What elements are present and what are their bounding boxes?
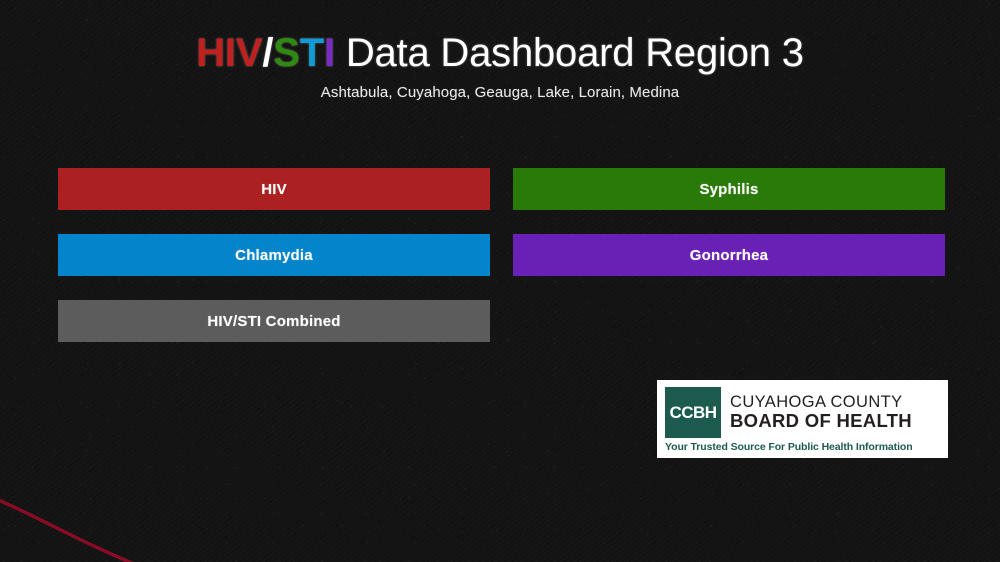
nav-button-syphilis[interactable]: Syphilis	[513, 168, 945, 210]
decorative-red-curve	[0, 476, 204, 562]
title-segment-i: I	[324, 31, 335, 75]
slide-canvas: HIV/STI Data Dashboard Region 3 Ashtabul…	[0, 0, 1000, 562]
title-segment-t: T	[300, 31, 324, 75]
logo-line-cuyahoga-county: CUYAHOGA COUNTY	[730, 394, 940, 411]
title-rest: Data Dashboard Region 3	[335, 31, 804, 75]
logo-wordmark: CUYAHOGA COUNTY BOARD OF HEALTH	[730, 387, 940, 438]
button-row-3: HIV/STI Combined	[58, 300, 946, 342]
page-subtitle: Ashtabula, Cuyahoga, Geauga, Lake, Lorai…	[0, 84, 1000, 101]
nav-button-hiv[interactable]: HIV	[58, 168, 490, 210]
page-title: HIV/STI Data Dashboard Region 3	[0, 30, 1000, 76]
nav-button-hiv-sti-combined[interactable]: HIV/STI Combined	[58, 300, 490, 342]
ccbh-monogram-icon: CCBH	[665, 387, 721, 438]
logo-tagline: Your Trusted Source For Public Health In…	[665, 441, 940, 453]
logo-primary-row: CCBH CUYAHOGA COUNTY BOARD OF HEALTH	[665, 387, 940, 438]
button-row-2: Chlamydia Gonorrhea	[58, 234, 946, 276]
logo-line-board-of-health: BOARD OF HEALTH	[730, 411, 940, 431]
title-segment-slash: /	[262, 31, 273, 75]
navigation-button-grid: HIV Syphilis Chlamydia Gonorrhea HIV/STI…	[58, 168, 946, 366]
ccbh-logo: CCBH CUYAHOGA COUNTY BOARD OF HEALTH You…	[657, 380, 948, 458]
title-segment-s: S	[273, 31, 299, 75]
button-row-1: HIV Syphilis	[58, 168, 946, 210]
nav-button-gonorrhea[interactable]: Gonorrhea	[513, 234, 945, 276]
ccbh-monogram-text: CCBH	[669, 403, 716, 423]
header: HIV/STI Data Dashboard Region 3 Ashtabul…	[0, 0, 1000, 101]
title-segment-hiv: HIV	[196, 31, 262, 75]
nav-button-chlamydia[interactable]: Chlamydia	[58, 234, 490, 276]
